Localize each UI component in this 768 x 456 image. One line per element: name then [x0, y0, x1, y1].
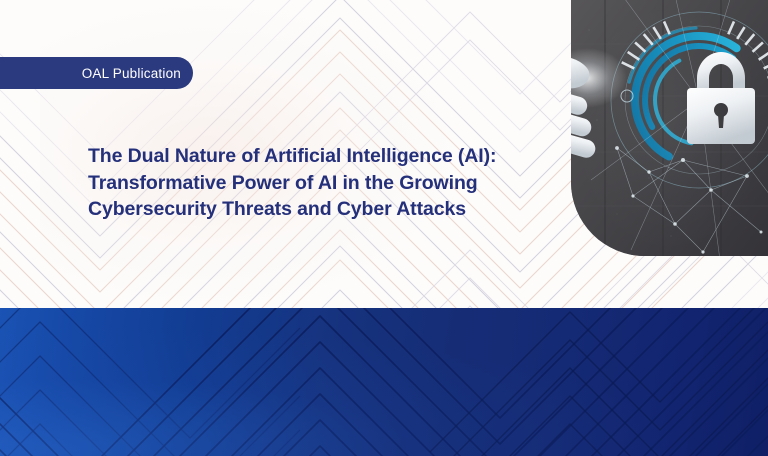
- title-line-3: Cybersecurity Threats and Cyber Attacks: [88, 196, 558, 223]
- badge-label: OAL Publication: [82, 66, 181, 81]
- oal-publication-badge: OAL Publication: [0, 57, 193, 89]
- chevron-pattern-dark: [0, 308, 768, 456]
- cybersecurity-illustration: [571, 0, 768, 256]
- title-line-1: The Dual Nature of Artificial Intelligen…: [88, 143, 558, 170]
- page-title: The Dual Nature of Artificial Intelligen…: [88, 143, 558, 223]
- title-line-2: Transformative Power of AI in the Growin…: [88, 170, 558, 197]
- hero-image-panel: [571, 0, 768, 256]
- banner-bottom-band: [0, 308, 768, 456]
- publication-banner: OAL Publication The Dual Nature of Artif…: [0, 0, 768, 456]
